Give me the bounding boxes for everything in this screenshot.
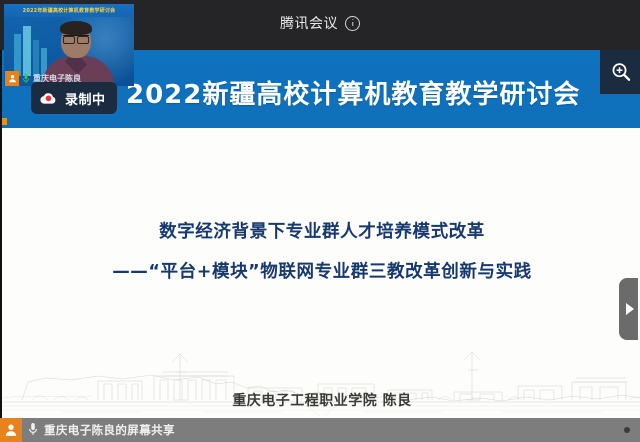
microphone-icon bbox=[28, 421, 38, 440]
status-dot-icon bbox=[624, 427, 630, 433]
magnifier-plus-icon bbox=[610, 61, 632, 83]
microphone-icon bbox=[22, 69, 30, 86]
recording-indicator[interactable]: 录制中 bbox=[31, 82, 117, 114]
screen-share-status-bar: 重庆电子陈良的屏幕共享 bbox=[0, 418, 640, 442]
person-icon bbox=[5, 71, 19, 86]
banner-accent-mark bbox=[2, 118, 7, 125]
person-icon bbox=[0, 418, 22, 442]
self-video-thumbnail[interactable]: 2022年新疆高校计算机教育教学研讨会 bbox=[4, 4, 134, 86]
screen-share-label: 重庆电子陈良的屏幕共享 bbox=[44, 422, 175, 438]
pip-banner-text: 2022年新疆高校计算机教育教学研讨会 bbox=[4, 4, 134, 17]
slide-presenter: 重庆电子工程职业学院 陈良 bbox=[2, 390, 640, 410]
presentation-slide: 数字经济背景下专业群人才培养模式改革 ——“平台+模块”物联网专业群三教改革创新… bbox=[2, 128, 640, 418]
slide-title-line-2: ——“平台+模块”物联网专业群三教改革创新与实践 bbox=[2, 258, 640, 283]
app-title: 腾讯会议 bbox=[280, 13, 338, 33]
cloud-record-icon bbox=[39, 91, 58, 105]
recording-label: 录制中 bbox=[65, 89, 106, 108]
zoom-in-button[interactable] bbox=[600, 50, 640, 94]
participant-hair bbox=[60, 21, 92, 35]
info-circle-icon[interactable] bbox=[345, 16, 360, 31]
expand-panel-button[interactable] bbox=[619, 278, 638, 340]
slide-title-line-1: 数字经济背景下专业群人才培养模式改革 bbox=[2, 218, 640, 243]
virtual-background-graphic bbox=[10, 24, 50, 76]
conference-banner-title: 2022新疆高校计算机教育教学研讨会 bbox=[126, 74, 580, 111]
tencent-meeting-window: 腾讯会议 2022新疆高校计算机教育教学研讨会 bbox=[0, 0, 640, 442]
participant-glasses bbox=[63, 35, 89, 43]
chevron-right-icon bbox=[626, 303, 634, 315]
titlebar-content: 腾讯会议 bbox=[280, 13, 360, 33]
